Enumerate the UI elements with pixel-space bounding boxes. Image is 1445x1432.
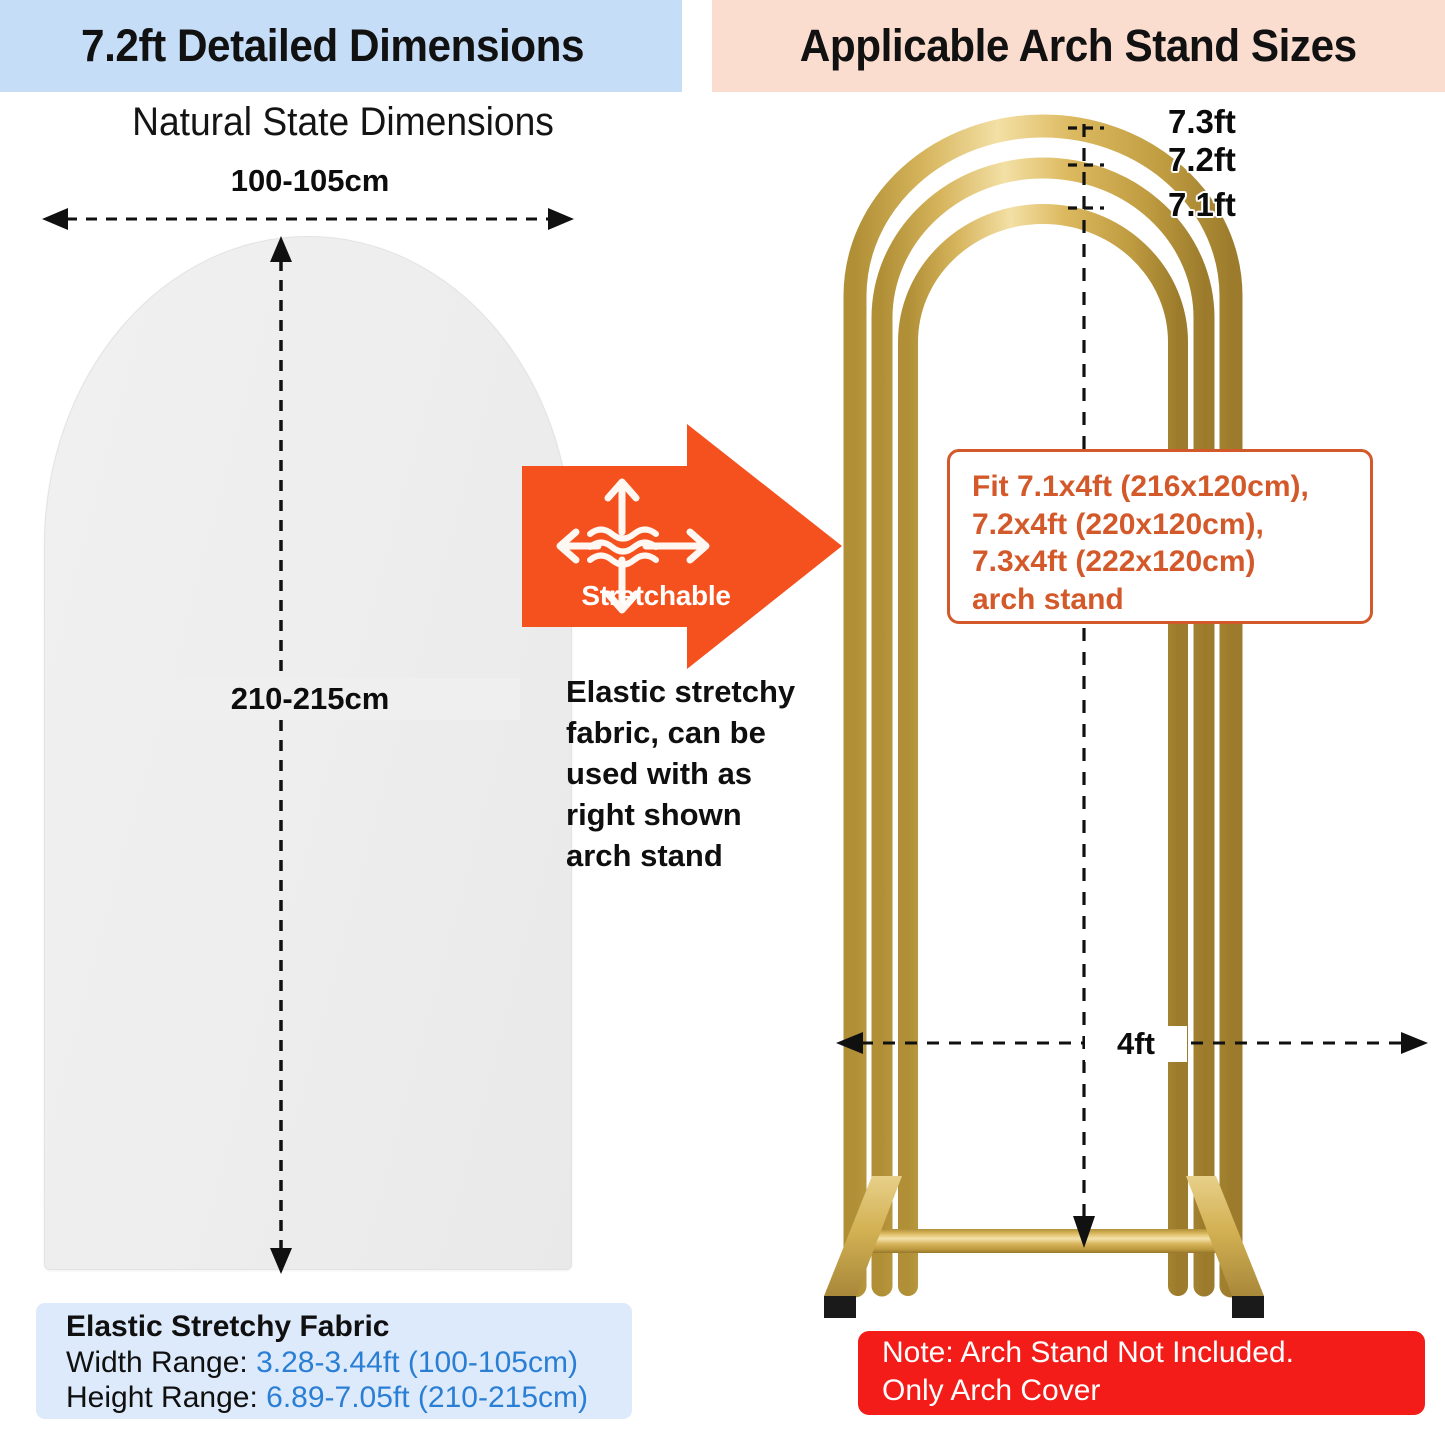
fit-sizes-box: Fit 7.1x4ft (216x120cm), 7.2x4ft (220x12… bbox=[947, 449, 1373, 624]
arch-size-label-73ft: 7.3ft bbox=[1168, 103, 1236, 141]
note-not-included-box: Note: Arch Stand Not Included. Only Arch… bbox=[858, 1331, 1425, 1415]
fabric-info-box: Elastic Stretchy Fabric Width Range: 3.2… bbox=[36, 1303, 632, 1419]
stretchable-label: Stretchable bbox=[556, 580, 756, 612]
fit-line: arch stand bbox=[972, 581, 1370, 619]
fabric-height-range-value: 6.89-7.05ft (210-215cm) bbox=[266, 1381, 588, 1414]
fabric-height-label: 210-215cm bbox=[100, 678, 520, 720]
stand-width-label: 4ft bbox=[1085, 1026, 1187, 1062]
fabric-arch-shape bbox=[44, 236, 572, 1270]
fabric-info-title: Elastic Stretchy Fabric bbox=[66, 1310, 632, 1345]
fit-line: 7.2x4ft (220x120cm), bbox=[972, 506, 1370, 544]
note-line: Only Arch Cover bbox=[882, 1372, 1425, 1410]
arch-size-label-72ft: 7.2ft bbox=[1168, 141, 1236, 179]
fabric-width-range-label: Width Range: bbox=[66, 1346, 256, 1379]
header-left-title: 7.2ft Detailed Dimensions bbox=[81, 20, 584, 72]
fit-line: Fit 7.1x4ft (216x120cm), bbox=[972, 468, 1370, 506]
fabric-width-range-value: 3.28-3.44ft (100-105cm) bbox=[256, 1346, 578, 1379]
fabric-height-range-row: Height Range: 6.89-7.05ft (210-215cm) bbox=[66, 1380, 632, 1415]
arch-size-label-71ft: 7.1ft bbox=[1168, 186, 1236, 224]
arch-stand-illustration bbox=[760, 96, 1445, 1356]
note-line: Note: Arch Stand Not Included. bbox=[882, 1334, 1425, 1372]
fabric-width-range-row: Width Range: 3.28-3.44ft (100-105cm) bbox=[66, 1345, 632, 1380]
fabric-width-dimension-line bbox=[42, 206, 574, 232]
fabric-height-dimension-line bbox=[268, 236, 294, 1274]
header-band-right: Applicable Arch Stand Sizes bbox=[712, 0, 1445, 92]
fit-line: 7.3x4ft (222x120cm) bbox=[972, 543, 1370, 581]
infographic-page: 7.2ft Detailed Dimensions Applicable Arc… bbox=[0, 0, 1445, 1432]
header-right-title: Applicable Arch Stand Sizes bbox=[800, 20, 1357, 72]
fabric-width-label: 100-105cm bbox=[45, 163, 575, 199]
fabric-height-range-label: Height Range: bbox=[66, 1381, 266, 1414]
natural-state-subtitle: Natural State Dimensions bbox=[78, 100, 608, 145]
header-band-left: 7.2ft Detailed Dimensions bbox=[0, 0, 682, 92]
